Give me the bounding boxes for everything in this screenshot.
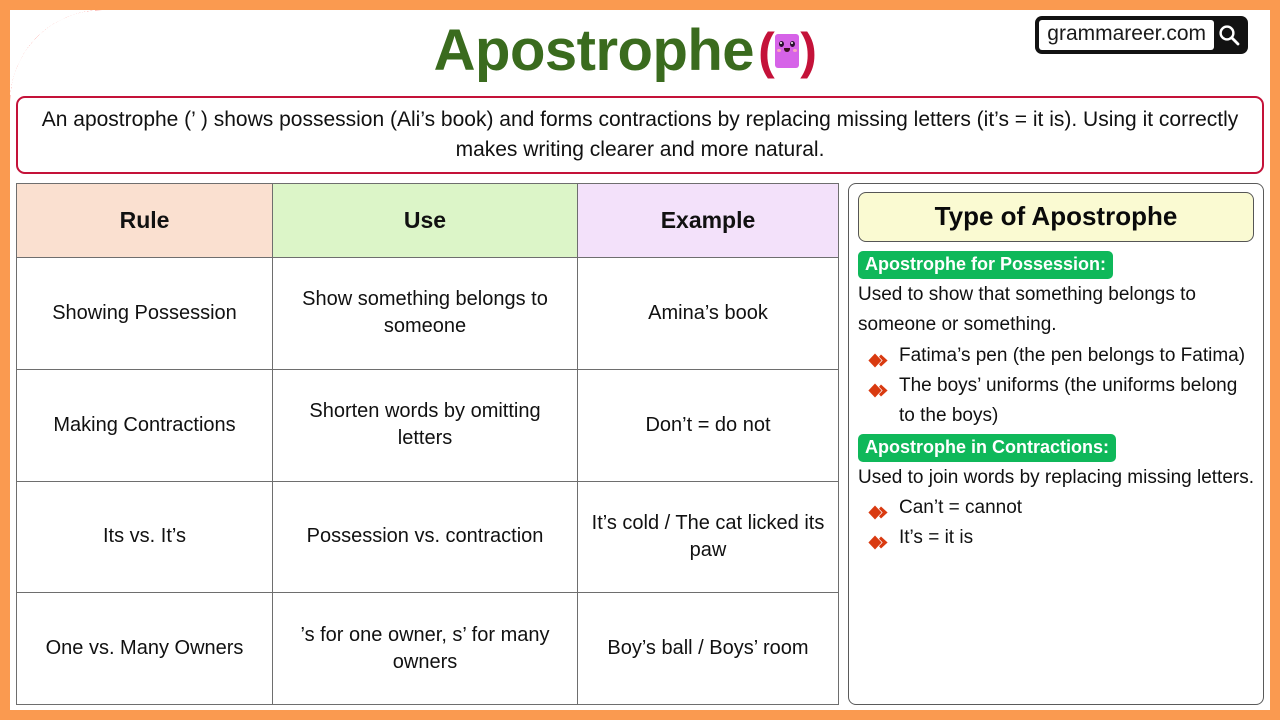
apostrophe-mascot-icon [775,34,799,68]
cell-example: Amina’s book [578,258,839,370]
double-diamond-bullet-icon [868,530,892,545]
mascot-mouth [784,48,790,52]
mascot-blush-right [793,49,797,52]
cell-use: Possession vs. contraction [273,481,578,593]
double-diamond-bullet-icon [868,378,892,393]
table-row: Making Contractions Shorten words by omi… [17,369,839,481]
list-item: The boys’ uniforms (the uniforms belong … [868,371,1254,431]
list-item-text: The boys’ uniforms (the uniforms belong … [899,375,1237,426]
list-item-text: Can’t = cannot [899,497,1022,518]
list-item: Fatima’s pen (the pen belongs to Fatima) [868,341,1254,371]
table-row: Showing Possession Show something belong… [17,258,839,370]
double-diamond-bullet-icon [868,500,892,515]
search-icon [1214,20,1244,50]
page-title-text: Apostrophe [434,18,754,83]
column-header-rule: Rule [17,184,273,258]
list-item: It’s = it is [868,523,1254,553]
site-logo-text: grammareer.com [1039,20,1214,50]
double-diamond-bullet-icon [868,348,892,363]
cell-use: Shorten words by omitting letters [273,369,578,481]
cell-use: ’s for one owner, s’ for many owners [273,593,578,705]
cell-example: Boy’s ball / Boys’ room [578,593,839,705]
mascot-eye-right [790,41,795,47]
bullet-list-contractions: Can’t = cannot It’s = it is [868,493,1254,553]
paren-close: ) [800,26,816,76]
page-frame: Apostrophe() grammareer.com An apostroph… [10,10,1270,710]
intro-text: An apostrophe (’ ) shows possession (Ali… [36,105,1244,165]
rules-table: Rule Use Example Showing Possession Show… [16,183,839,705]
list-item-text: Fatima’s pen (the pen belongs to Fatima) [899,345,1245,366]
main-content: Rule Use Example Showing Possession Show… [16,183,1264,705]
section-body-possession: Used to show that something belongs to s… [858,280,1254,342]
type-panel-title: Type of Apostrophe [858,192,1254,242]
type-of-apostrophe-panel: Type of Apostrophe Apostrophe for Posses… [848,183,1264,705]
section-label-possession: Apostrophe for Possession: [858,251,1113,279]
title-decoration: () [758,26,816,76]
page-header: Apostrophe() grammareer.com [10,10,1270,92]
page-title: Apostrophe() [434,22,817,80]
cell-rule: Its vs. It’s [17,481,273,593]
section-possession: Apostrophe for Possession: Used to show … [858,251,1254,431]
site-logo-badge[interactable]: grammareer.com [1035,16,1248,54]
cell-example: It’s cold / The cat licked its paw [578,481,839,593]
list-item-text: It’s = it is [899,527,973,548]
cell-use: Show something belongs to someone [273,258,578,370]
section-contractions: Apostrophe in Contractions: Used to join… [858,434,1254,553]
cell-example: Don’t = do not [578,369,839,481]
mascot-blush-left [777,49,781,52]
table-row: One vs. Many Owners ’s for one owner, s’… [17,593,839,705]
table-row: Its vs. It’s Possession vs. contraction … [17,481,839,593]
column-header-use: Use [273,184,578,258]
section-label-contractions: Apostrophe in Contractions: [858,434,1116,462]
list-item: Can’t = cannot [868,493,1254,523]
bullet-list-possession: Fatima’s pen (the pen belongs to Fatima)… [868,341,1254,431]
cell-rule: Making Contractions [17,369,273,481]
table-header-row: Rule Use Example [17,184,839,258]
mascot-eye-left [779,41,784,47]
column-header-example: Example [578,184,839,258]
section-body-contractions: Used to join words by replacing missing … [858,463,1254,494]
cell-rule: One vs. Many Owners [17,593,273,705]
paren-open: ( [758,26,774,76]
cell-rule: Showing Possession [17,258,273,370]
intro-box: An apostrophe (’ ) shows possession (Ali… [16,96,1264,174]
rules-table-wrap: Rule Use Example Showing Possession Show… [16,183,838,705]
